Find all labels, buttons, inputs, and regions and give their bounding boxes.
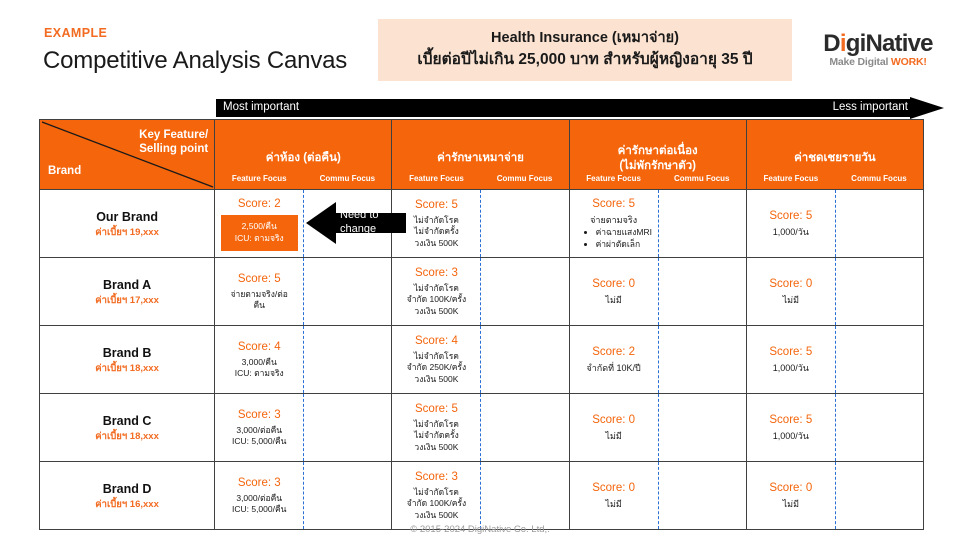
highlighted-detail-box: 2,500/คืนICU: ตามจริง [221,215,298,251]
brand-name: Our Brand [40,208,214,226]
commu-focus-cell [658,190,746,258]
detail-line: ICU: 5,000/คืน [215,436,303,448]
column-subheaders: Feature Focus Commu Focus [570,173,746,184]
detail-line: ไม่จำกัดโรค [392,351,480,363]
feature-focus-cell: Score: 33,000/ต่อคืนICU: 5,000/คืน [215,394,304,462]
brand-premium: ค่าเบี้ยฯ 16,xxx [40,498,214,512]
detail-line: วงเงิน 500K [392,306,480,318]
brand-cell: Brand Cค่าเบี้ยฯ 18,xxx [40,394,215,462]
subheader-feature-focus: Feature Focus [215,173,303,184]
detail-line: 3,000/ต่อคืน [215,425,303,437]
detail-line: ไม่จำกัดโรค [392,487,480,499]
brand-cell: Brand Dค่าเบี้ยฯ 16,xxx [40,462,215,530]
importance-arrow-head-icon [910,97,944,119]
commu-focus-cell [481,394,569,462]
competitive-analysis-table: Key Feature/ Selling point Brand ค่าห้อง… [39,119,924,530]
detail-line: 2,500/คืน [235,220,284,233]
brand-cell: Our Brandค่าเบี้ยฯ 19,xxx [40,190,215,258]
column-header-daily-compensation: ค่าชดเชยรายวัน Feature Focus Commu Focus [746,120,923,190]
page-title: Competitive Analysis Canvas [43,47,347,75]
logo-wordmark: DigiNative [808,31,948,56]
detail-line: จ่ายตามจริง/ต่อ [215,289,303,301]
detail-line: ICU: 5,000/คืน [215,504,303,516]
table-row: Brand Dค่าเบี้ยฯ 16,xxxScore: 33,000/ต่อ… [40,462,924,530]
detail-line: ไม่มี [570,498,658,511]
table-row: Brand Cค่าเบี้ยฯ 18,xxxScore: 33,000/ต่อ… [40,394,924,462]
score-label: Score: 2 [215,197,303,212]
score-label: Score: 3 [215,476,303,491]
detail-line: วงเงิน 500K [392,510,480,522]
detail-bullet: ค่าผ่าตัดเล็ก [596,239,658,251]
score-label: Score: 5 [747,209,835,224]
feature-focus-cell: Score: 0ไม่มี [746,462,835,530]
column-title-line-1: ค่ารักษาต่อเนื่อง [570,144,746,159]
commu-focus-cell [304,326,392,394]
column-title-line-1: ค่าชดเชยรายวัน [747,151,923,166]
column-title-line-1: ค่าห้อง (ต่อคืน) [215,151,391,166]
brand-name: Brand D [40,480,214,498]
column-title: ค่าชดเชยรายวัน [747,141,923,168]
column-subheaders: Feature Focus Commu Focus [392,173,568,184]
example-label: EXAMPLE [44,26,107,40]
score-label: Score: 3 [392,470,480,485]
subheader-commu-focus: Commu Focus [658,173,746,184]
topic-line-1: Health Insurance (เหมาจ่าย) [491,28,679,48]
feature-focus-cell: Score: 5ไม่จำกัดโรคไม่จำกัดครั้งวงเงิน 5… [392,394,481,462]
logo-tagline-accent: WORK! [891,56,927,68]
detail-line: จ่ายตามจริง [570,214,658,227]
detail-line: คืน [215,300,303,312]
detail-line: วงเงิน 500K [392,374,480,386]
callout-text: Need to change [340,208,402,236]
brand-axis-label: Brand [48,165,81,177]
score-label: Score: 2 [570,345,658,360]
need-to-change-callout: Need to change [306,199,406,247]
commu-focus-cell [304,394,392,462]
logo-word-d: D [823,30,840,57]
feature-focus-cell: Score: 43,000/คืนICU: ตามจริง [215,326,304,394]
detail-line: 3,000/ต่อคืน [215,493,303,505]
feature-focus-cell: Score: 2จำกัดที่ 10K/ปี [569,326,658,394]
logo-tagline: Make Digital WORK! [808,56,948,69]
key-feature-line-2: Selling point [139,142,208,156]
commu-focus-cell [481,326,569,394]
topic-banner: Health Insurance (เหมาจ่าย) เบี้ยต่อปีไม… [378,19,792,81]
column-title-line-1: ค่ารักษาเหมาจ่าย [392,151,568,166]
brand-premium: ค่าเบี้ยฯ 18,xxx [40,430,214,444]
score-label: Score: 5 [747,413,835,428]
subheader-feature-focus: Feature Focus [392,173,480,184]
feature-focus-cell: Score: 51,000/วัน [746,190,835,258]
detail-line: ไม่มี [570,294,658,307]
feature-focus-cell: Score: 3ไม่จำกัดโรคจำกัด 100K/ครั้งวงเงิ… [392,462,481,530]
detail-line: จำกัด 100K/ครั้ง [392,294,480,306]
brand-name: Brand A [40,276,214,294]
feature-focus-cell: Score: 0ไม่มี [569,462,658,530]
score-label: Score: 5 [747,345,835,360]
commu-focus-cell [835,190,923,258]
detail-line: ICU: ตามจริง [215,368,303,380]
score-label: Score: 4 [215,340,303,355]
commu-focus-cell [658,394,746,462]
column-title: ค่าห้อง (ต่อคืน) [215,141,391,168]
topic-line-2: เบี้ยต่อปีไม่เกิน 25,000 บาท สำหรับผู้หญ… [417,48,752,72]
logo-word-rest: giNative [846,30,933,57]
score-label: Score: 4 [392,334,480,349]
commu-focus-cell [481,258,569,326]
footer-copyright: © 2015-2024 DigiNative Co. Ltd,. [0,524,960,535]
feature-focus-cell: Score: 3ไม่จำกัดโรคจำกัด 100K/ครั้งวงเงิ… [392,258,481,326]
commu-focus-cell [835,326,923,394]
importance-arrow-body [216,99,910,117]
commu-focus-cell [304,258,392,326]
corner-header-cell: Key Feature/ Selling point Brand [40,120,215,190]
column-title: ค่ารักษาต่อเนื่อง (ไม่พักรักษาตัว) [570,134,746,176]
brand-premium: ค่าเบี้ยฯ 18,xxx [40,362,214,376]
score-label: Score: 0 [747,481,835,496]
brand-cell: Brand Aค่าเบี้ยฯ 17,xxx [40,258,215,326]
score-label: Score: 0 [570,413,658,428]
score-label: Score: 3 [215,408,303,423]
table-row: Brand Aค่าเบี้ยฯ 17,xxxScore: 5จ่ายตามจร… [40,258,924,326]
feature-focus-cell: Score: 51,000/วัน [746,394,835,462]
detail-line: ICU: ตามจริง [235,232,284,245]
detail-line: ไม่จำกัดโรค [392,283,480,295]
score-label: Score: 0 [570,277,658,292]
feature-focus-cell: Score: 0ไม่มี [569,394,658,462]
key-feature-line-1: Key Feature/ [139,128,208,142]
callout-line-1: Need to [340,208,402,222]
detail-line: ไม่มี [570,430,658,443]
importance-arrow: Most important Less important [216,97,944,119]
subheader-feature-focus: Feature Focus [570,173,658,184]
commu-focus-cell [835,462,923,530]
column-subheaders: Feature Focus Commu Focus [215,173,391,184]
feature-focus-cell: Score: 33,000/ต่อคืนICU: 5,000/คืน [215,462,304,530]
detail-line: 1,000/วัน [747,226,835,239]
detail-line: 1,000/วัน [747,362,835,375]
commu-focus-cell [658,462,746,530]
key-feature-label: Key Feature/ Selling point [139,128,208,156]
detail-line: 3,000/คืน [215,357,303,369]
score-label: Score: 0 [747,277,835,292]
score-label: Score: 0 [570,481,658,496]
detail-line: 1,000/วัน [747,430,835,443]
brand-cell: Brand Bค่าเบี้ยฯ 18,xxx [40,326,215,394]
column-title: ค่ารักษาเหมาจ่าย [392,141,568,168]
commu-focus-cell [481,462,569,530]
commu-focus-cell [658,258,746,326]
commu-focus-cell [658,326,746,394]
detail-line: จำกัด 100K/ครั้ง [392,498,480,510]
feature-focus-cell: Score: 5จ่ายตามจริงค่าฉายแสงMRIค่าผ่าตัด… [569,190,658,258]
detail-line: ไม่มี [747,294,835,307]
detail-line: จำกัดที่ 10K/ปี [570,362,658,375]
column-header-room-rate: ค่าห้อง (ต่อคืน) Feature Focus Commu Foc… [215,120,392,190]
column-subheaders: Feature Focus Commu Focus [747,173,923,184]
callout-line-2: change [340,222,402,236]
feature-focus-cell: Score: 4ไม่จำกัดโรคจำกัด 250K/ครั้งวงเงิ… [392,326,481,394]
feature-focus-cell: Score: 0ไม่มี [569,258,658,326]
table-row: Brand Bค่าเบี้ยฯ 18,xxxScore: 43,000/คืน… [40,326,924,394]
table-header-row: Key Feature/ Selling point Brand ค่าห้อง… [40,120,924,190]
commu-focus-cell [835,394,923,462]
subheader-feature-focus: Feature Focus [747,173,835,184]
score-label: Score: 5 [570,197,658,212]
brand-name: Brand C [40,412,214,430]
score-label: Score: 3 [392,266,480,281]
feature-focus-cell: Score: 5จ่ายตามจริง/ต่อคืน [215,258,304,326]
most-important-label: Most important [223,101,299,113]
less-important-label: Less important [833,101,908,113]
diginative-logo: DigiNative Make Digital WORK! [808,31,948,69]
feature-focus-cell: Score: 0ไม่มี [746,258,835,326]
brand-premium: ค่าเบี้ยฯ 19,xxx [40,226,214,240]
score-label: Score: 5 [215,272,303,287]
column-title-line-2: (ไม่พักรักษาตัว) [570,159,746,174]
commu-focus-cell [304,462,392,530]
feature-focus-cell: Score: 22,500/คืนICU: ตามจริง [215,190,304,258]
detail-bullet: ค่าฉายแสงMRI [596,227,658,239]
table-body: Our Brandค่าเบี้ยฯ 19,xxxScore: 22,500/ค… [40,190,924,530]
subheader-commu-focus: Commu Focus [303,173,391,184]
score-label: Score: 5 [392,402,480,417]
column-header-continued-treatment: ค่ารักษาต่อเนื่อง (ไม่พักรักษาตัว) Featu… [569,120,746,190]
brand-premium: ค่าเบี้ยฯ 17,xxx [40,294,214,308]
detail-line: จำกัด 250K/ครั้ง [392,362,480,374]
feature-focus-cell: Score: 51,000/วัน [746,326,835,394]
commu-focus-cell [481,190,569,258]
logo-tagline-prefix: Make Digital [829,56,891,68]
subheader-commu-focus: Commu Focus [835,173,923,184]
subheader-commu-focus: Commu Focus [480,173,568,184]
column-header-lumpsum-treatment: ค่ารักษาเหมาจ่าย Feature Focus Commu Foc… [392,120,569,190]
brand-name: Brand B [40,344,214,362]
detail-line: วงเงิน 500K [392,442,480,454]
detail-bullet-list: ค่าฉายแสงMRIค่าผ่าตัดเล็ก [570,227,658,250]
detail-line: ไม่มี [747,498,835,511]
detail-line: ไม่จำกัดโรค [392,419,480,431]
detail-line: ไม่จำกัดครั้ง [392,430,480,442]
commu-focus-cell [835,258,923,326]
table-row: Our Brandค่าเบี้ยฯ 19,xxxScore: 22,500/ค… [40,190,924,258]
